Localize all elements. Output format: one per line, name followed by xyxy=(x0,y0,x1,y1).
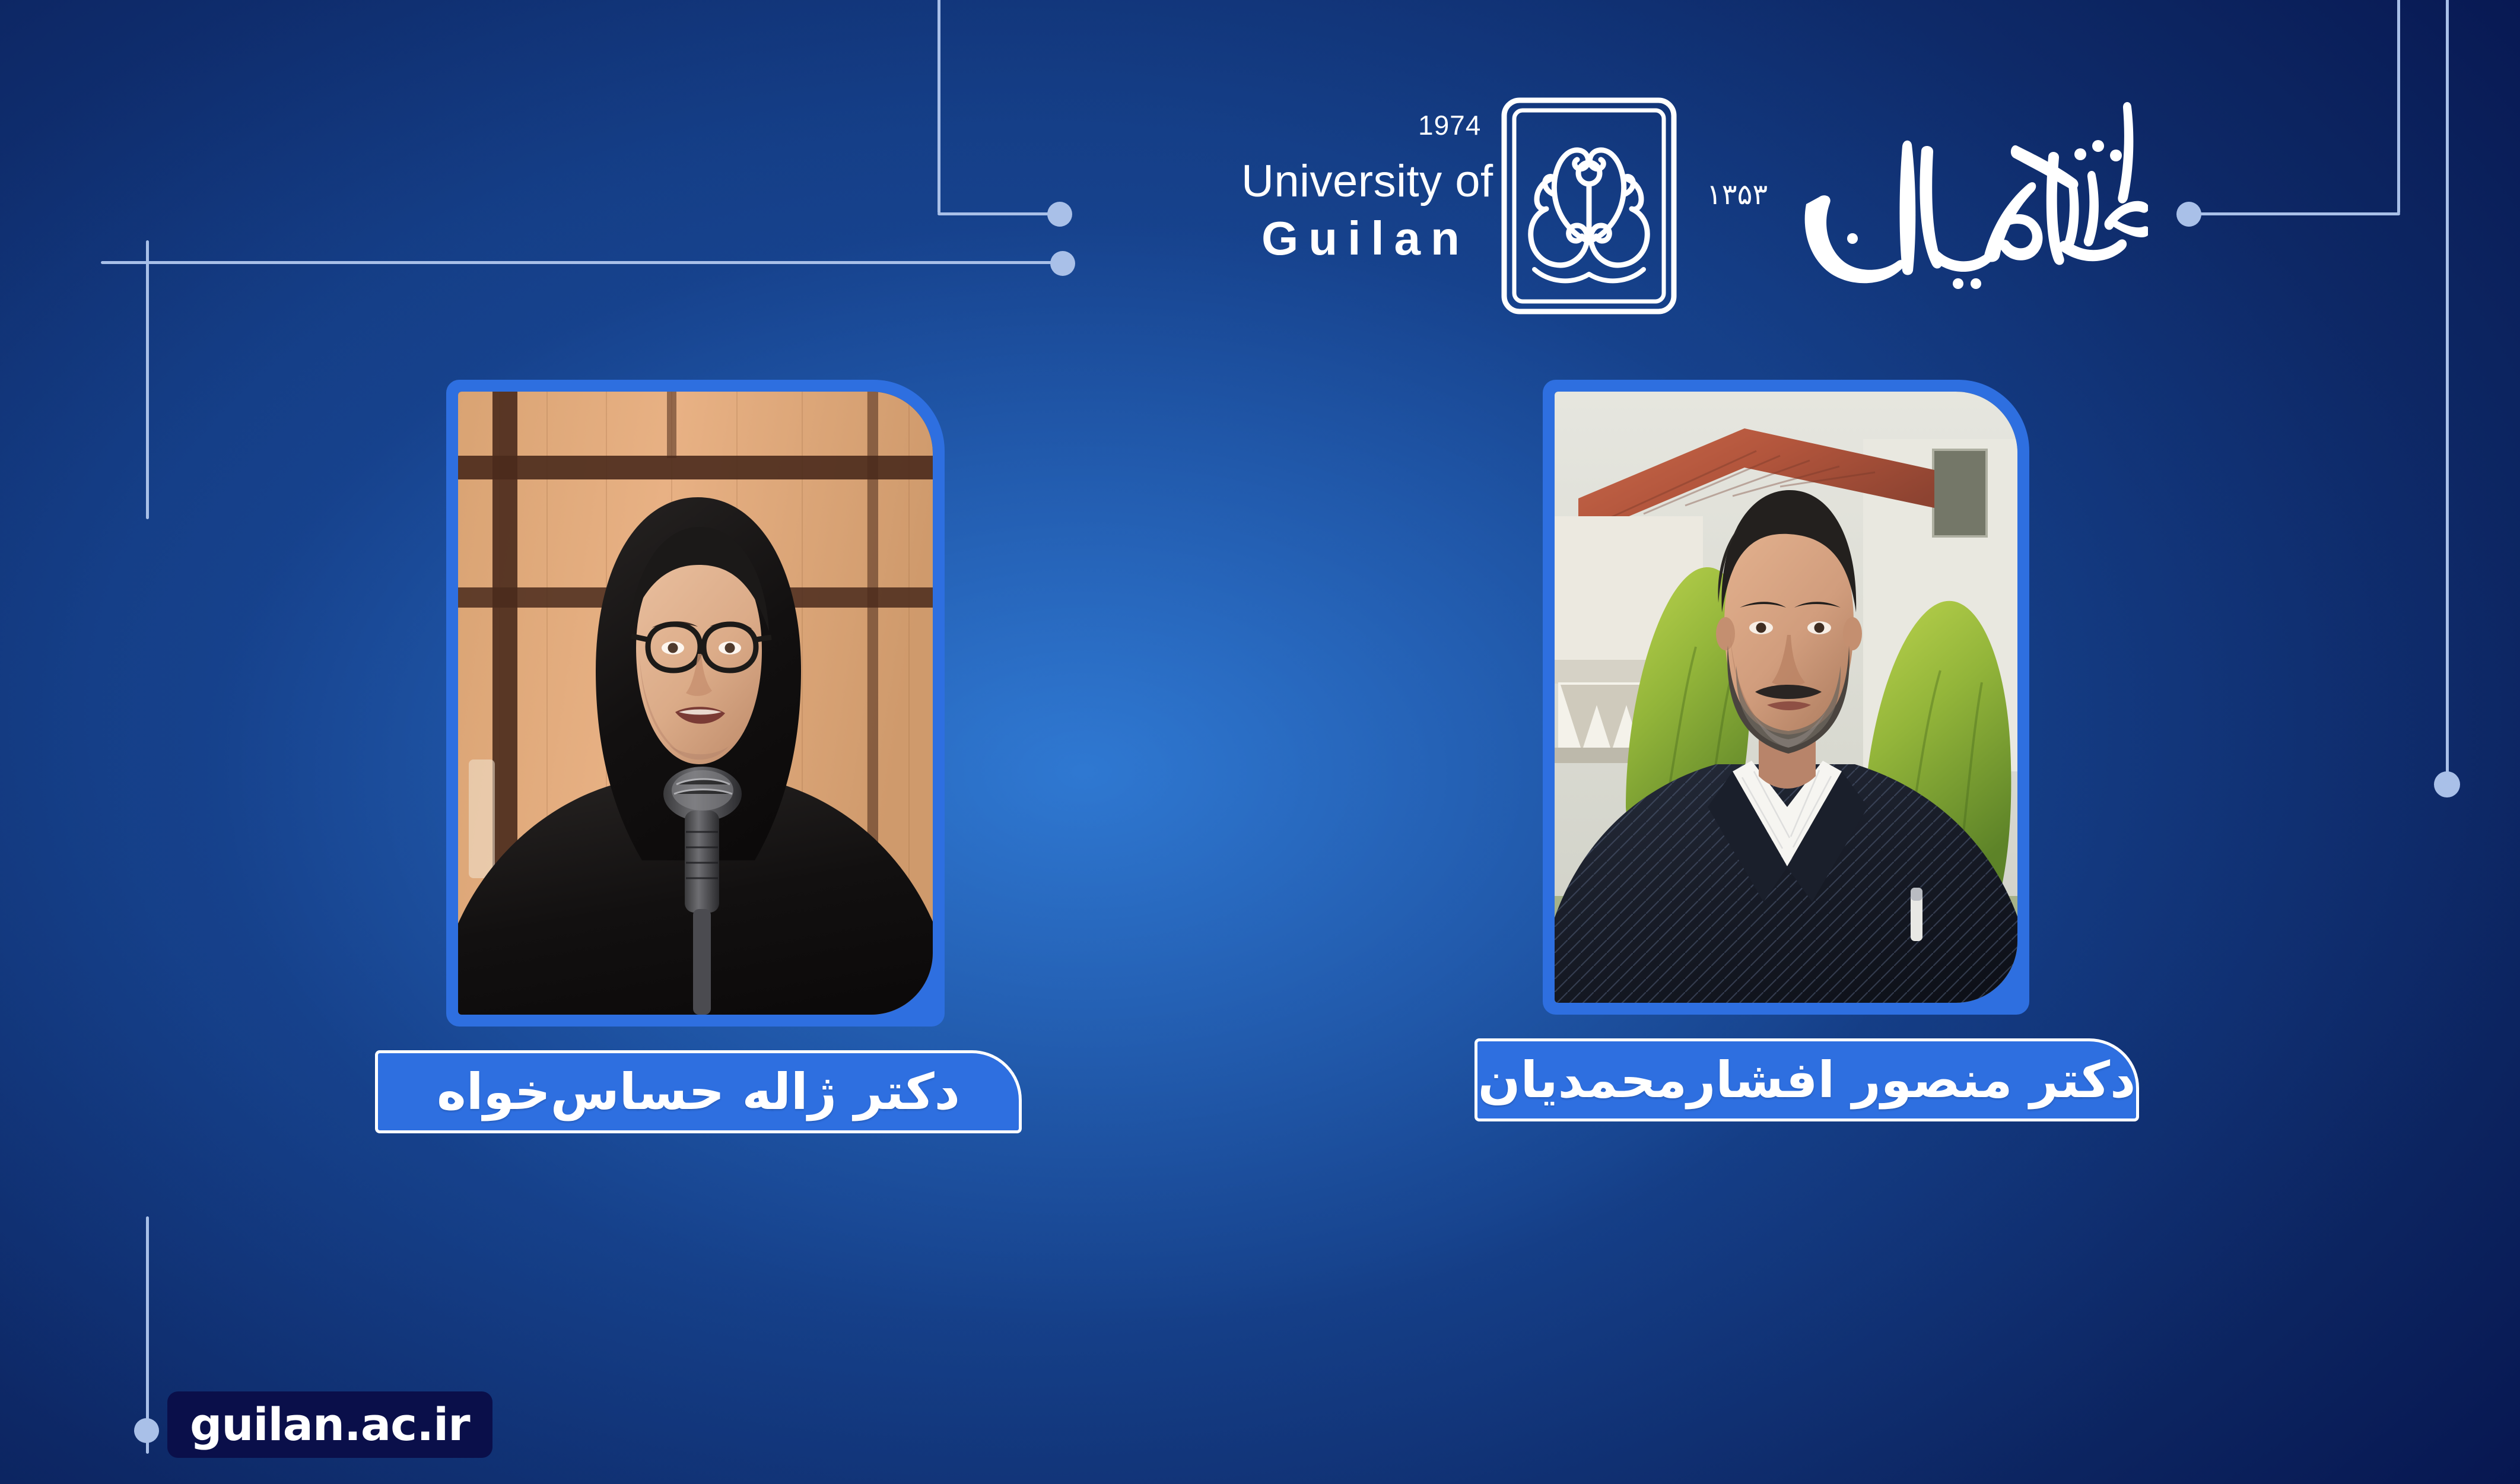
banner-canvas: University of Guilan 1974 ۱۳۵۳ xyxy=(0,0,2520,1484)
deco-line-upper-left-vertical xyxy=(146,240,149,519)
portrait-frame xyxy=(446,380,945,1027)
deco-line-top-left-horizontal xyxy=(938,212,1056,215)
website-url-text: guilan.ac.ir xyxy=(190,1402,470,1447)
deco-dot-lower-left xyxy=(134,1418,159,1443)
deco-dot-right-edge xyxy=(2434,771,2460,797)
deco-line-upper-left-horizontal xyxy=(101,261,1062,264)
website-url-badge[interactable]: guilan.ac.ir xyxy=(167,1391,492,1458)
guilan-butterfly-emblem-icon xyxy=(1500,96,1678,316)
deco-line-right-edge-vertical xyxy=(2446,0,2449,783)
portrait-photo-man-in-pinstripe-suit xyxy=(1555,392,2017,1003)
portrait-photo-woman-speaking-at-microphone xyxy=(458,392,933,1015)
deco-dot-upper-left xyxy=(1050,251,1075,276)
deco-line-lower-left-vertical xyxy=(146,1216,149,1454)
deco-dot-top-left xyxy=(1047,202,1072,227)
person-name: دکتر ژاله حساس‌خواه xyxy=(437,1067,960,1117)
logo-guilan-word: Guilan xyxy=(1261,211,1470,266)
logo-persian-calligraphy xyxy=(1780,80,2148,335)
portrait-frame xyxy=(1543,380,2029,1015)
name-plate: دکتر ژاله حساس‌خواه xyxy=(375,1050,1022,1133)
deco-line-top-right-vertical xyxy=(2397,0,2400,214)
university-logo: University of Guilan 1974 ۱۳۵۳ xyxy=(1222,83,2148,332)
deco-line-top-right-horizontal xyxy=(2195,212,2400,215)
person-name: دکتر منصور افشارمحمدیان xyxy=(1478,1055,2136,1105)
deco-line-top-left-vertical xyxy=(938,0,940,214)
name-plate: دکتر منصور افشارمحمدیان xyxy=(1474,1038,2139,1121)
logo-founding-year-persian: ۱۳۵۳ xyxy=(1707,178,1768,211)
logo-founding-year-gregorian: 1974 xyxy=(1418,109,1481,141)
deco-dot-top-right xyxy=(2176,202,2201,227)
logo-university-word: University of xyxy=(1241,155,1493,207)
